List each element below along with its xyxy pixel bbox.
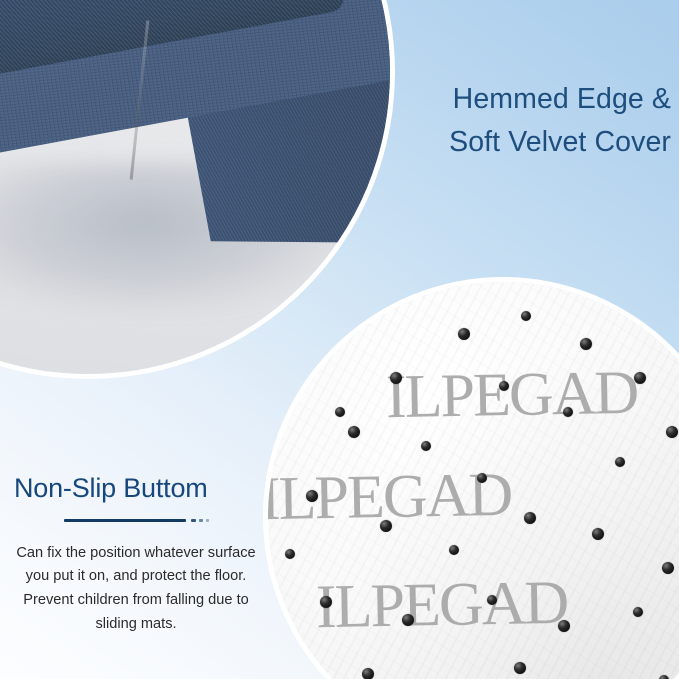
anti-slip-dot [320,596,332,608]
divider-dot [206,519,209,522]
divider-dot [191,519,196,522]
feature-body-line-4: sliding mats. [16,613,256,637]
anti-slip-dot [380,520,392,532]
feature-description: Can fix the position whatever surface yo… [0,542,272,637]
anti-slip-dot [615,457,625,467]
anti-slip-dot [348,426,360,438]
mat-brand-logo-watermark: ILPEGAD [385,358,637,433]
anti-slip-dot [458,328,470,340]
anti-slip-dot [514,662,526,674]
divider-dot [199,519,203,522]
anti-slip-dot [285,549,295,559]
anti-slip-dot [666,426,678,438]
anti-slip-dot [499,381,509,391]
anti-slip-dot [487,595,497,605]
anti-slip-dot [592,528,604,540]
heading-line-2: Soft Velvet Cover [331,121,671,164]
feature-body-line-2: you put it on, and protect the floor. [16,565,256,589]
mat-logo-text-1: ILPEGAD [385,359,637,431]
feature-block-non-slip: Non-Slip Buttom Can fix the position wha… [0,474,272,636]
anti-slip-dot [477,473,487,483]
anti-slip-dot [634,372,646,384]
anti-slip-dot [524,512,536,524]
anti-slip-dot [390,372,402,384]
heading-line-1: Hemmed Edge & [331,78,671,121]
divider-dots [191,519,209,522]
feature-body-line-3: Prevent children from falling due to [16,589,256,613]
anti-slip-dot [558,620,570,632]
anti-slip-dot [633,607,643,617]
anti-slip-dot [335,407,345,417]
anti-slip-dot [521,311,531,321]
anti-slip-dot [662,562,674,574]
anti-slip-dot [580,338,592,350]
anti-slip-mat-photo-circle: ILPEGAD ILPEGAD ILPEGAD [268,282,679,679]
feature-body-line-1: Can fix the position whatever surface [16,542,256,566]
divider-line [64,519,186,522]
feature-title: Non-Slip Buttom [0,474,272,504]
divider [0,512,272,530]
heading-hemmed-edge: Hemmed Edge & Soft Velvet Cover [331,78,671,165]
anti-slip-dot [659,675,669,679]
anti-slip-dot [563,407,573,417]
mat-logo-text-3: ILPEGAD [315,569,567,641]
mat-brand-logo-watermark: ILPEGAD [315,568,567,643]
anti-slip-dot [402,614,414,626]
anti-slip-dot [603,291,613,301]
product-feature-infographic: Hemmed Edge & Soft Velvet Cover ILPEGAD … [0,0,679,679]
anti-slip-dot [421,441,431,451]
anti-slip-dot [362,668,374,679]
anti-slip-dot [306,490,318,502]
anti-slip-dot [449,545,459,555]
